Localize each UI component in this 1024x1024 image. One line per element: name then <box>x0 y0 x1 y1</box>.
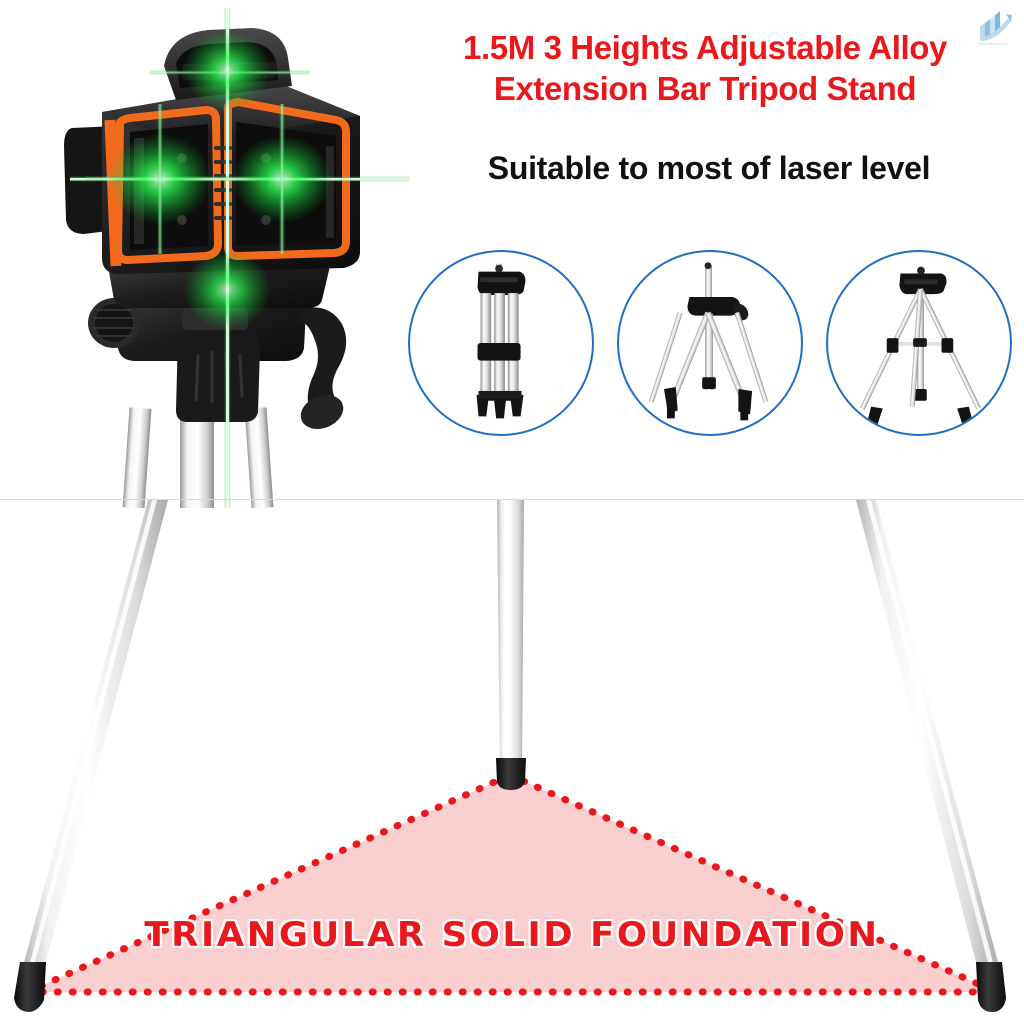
subtitle: Suitable to most of laser level <box>400 150 1018 187</box>
thumbnail-tripod-spread[interactable] <box>826 250 1012 436</box>
product-marketing-image: 1.5M 3 Heights Adjustable Alloy Extensio… <box>0 0 1024 1024</box>
hero-laser-level-image <box>30 8 410 508</box>
headline: 1.5M 3 Heights Adjustable Alloy Extensio… <box>400 28 1010 110</box>
headline-line-1: 1.5M 3 Heights Adjustable Alloy <box>400 28 1010 69</box>
thumbnail-tripod-extended[interactable] <box>617 250 803 436</box>
thumbnail-tripod-folded[interactable] <box>408 250 594 436</box>
foundation-caption: TRIANGULAR SOLID FOUNDATION <box>0 915 1024 955</box>
headline-line-2: Extension Bar Tripod Stand <box>400 69 1010 110</box>
